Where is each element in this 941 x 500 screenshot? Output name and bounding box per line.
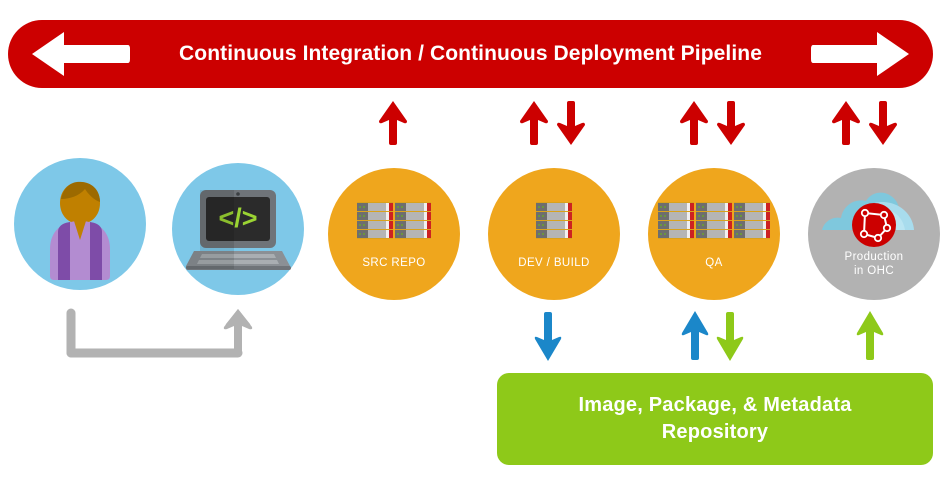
arrow-up-production <box>831 100 861 146</box>
arrow-down-dev-build-to-repo <box>534 310 562 362</box>
arrow-down-qa <box>716 100 746 146</box>
pipeline-banner: Continuous Integration / Continuous Depl… <box>8 20 933 88</box>
node-label-src-repo: SRC REPO <box>328 256 460 270</box>
arrow-down-qa-to-repo <box>716 310 744 362</box>
laptop-code-icon: </> <box>172 163 304 295</box>
node-production[interactable]: Production in OHC <box>808 168 940 300</box>
arrow-up-qa <box>679 100 709 146</box>
node-label-dev-build: DEV / BUILD <box>488 256 620 270</box>
arrow-up-dev-build <box>519 100 549 146</box>
cloud-openshift-icon <box>808 168 940 300</box>
arrow-up-qa-from-repo <box>681 310 709 362</box>
server-rack-icon <box>488 202 620 239</box>
arrow-right-icon <box>811 31 911 77</box>
repository-box-line1: Image, Package, & Metadata <box>578 392 851 419</box>
node-qa[interactable]: QA <box>648 168 780 300</box>
node-label-production-line1: Production <box>808 250 940 264</box>
arrow-up-production-from-repo <box>856 310 884 362</box>
node-workstation[interactable]: </> <box>172 163 304 295</box>
repository-box-line2: Repository <box>578 419 851 446</box>
node-src-repo[interactable]: SRC REPO <box>328 168 460 300</box>
feedback-arrow-developer-to-workstation <box>66 308 256 364</box>
pipeline-banner-title: Continuous Integration / Continuous Depl… <box>138 20 803 88</box>
repository-box-label: Image, Package, & Metadata Repository <box>578 392 851 446</box>
person-icon <box>14 158 146 290</box>
node-developer[interactable] <box>14 158 146 290</box>
diagram-canvas: Continuous Integration / Continuous Depl… <box>0 0 941 500</box>
node-label-production-line2: in OHC <box>808 264 940 278</box>
node-dev-build[interactable]: DEV / BUILD <box>488 168 620 300</box>
node-label-qa: QA <box>648 256 780 270</box>
arrow-down-production <box>868 100 898 146</box>
server-rack-icon <box>328 202 460 239</box>
server-rack-icon <box>648 202 780 239</box>
arrow-up-src-repo <box>378 100 408 146</box>
node-label-production: Production in OHC <box>808 250 940 278</box>
arrow-down-dev-build <box>556 100 586 146</box>
repository-box[interactable]: Image, Package, & Metadata Repository <box>497 373 933 465</box>
arrow-left-icon <box>30 31 130 77</box>
